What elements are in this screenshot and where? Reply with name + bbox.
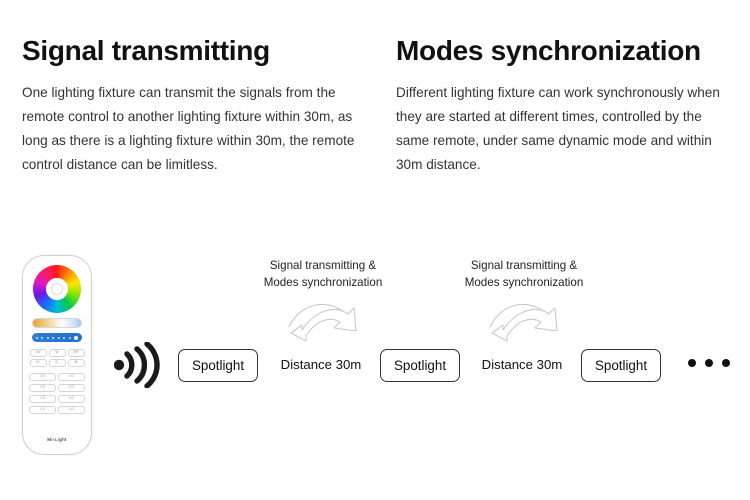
arrow-caption-line1: Signal transmitting & — [443, 257, 605, 274]
bidirectional-arrow-icon — [487, 297, 563, 354]
arrow-caption-1: Signal transmitting & Modes synchronizat… — [242, 257, 404, 291]
zone-button-grid: I O I O I O I O I O I O I O I O — [28, 373, 86, 414]
remote-zone-button: I O — [58, 406, 85, 414]
remote-brand-label: Mi-Light — [23, 437, 91, 442]
remote-zone-button: I O — [29, 406, 56, 414]
color-wheel-icon — [33, 265, 81, 313]
section-body-left: One lighting fixture can transmit the si… — [22, 81, 372, 177]
fixture-spotlight-1: Spotlight — [178, 349, 258, 382]
remote-zone-button: I O — [29, 395, 56, 403]
bidirectional-arrow-icon — [286, 297, 362, 354]
color-temperature-slider — [32, 318, 82, 328]
arrow-caption-2: Signal transmitting & Modes synchronizat… — [443, 257, 605, 291]
infographic-page: Signal transmitting One lighting fixture… — [0, 0, 750, 500]
section-body-right: Different lighting fixture can work sync… — [396, 81, 736, 177]
brightness-mode-slider — [32, 333, 82, 342]
distance-label-1: Distance 30m — [268, 357, 374, 372]
remote-mode-button: S+ — [30, 359, 47, 367]
signal-waves-icon — [112, 342, 160, 388]
section-modes-synchronization: Modes synchronization Different lighting… — [396, 36, 736, 177]
arrow-caption-line2: Modes synchronization — [242, 274, 404, 291]
fixture-spotlight-2: Spotlight — [380, 349, 460, 382]
remote-mode-button: M — [68, 359, 85, 367]
section-signal-transmitting: Signal transmitting One lighting fixture… — [22, 36, 372, 177]
remote-mode-button: ON — [30, 349, 47, 357]
distance-label-2: Distance 30m — [469, 357, 575, 372]
fixture-spotlight-3: Spotlight — [581, 349, 661, 382]
arrow-caption-line1: Signal transmitting & — [242, 257, 404, 274]
ellipsis-dot — [688, 359, 696, 367]
ellipsis-dot — [705, 359, 713, 367]
page-title-right: Modes synchronization — [396, 36, 736, 67]
remote-mode-button: S- — [49, 359, 66, 367]
remote-zone-button: I O — [58, 373, 85, 381]
diagram-area: ON W OFF S+ S- M I O I O I O I O I O I O… — [0, 245, 750, 475]
remote-zone-button: I O — [58, 395, 85, 403]
arrow-caption-line2: Modes synchronization — [443, 274, 605, 291]
remote-mode-button: W — [49, 349, 66, 357]
mode-button-grid: ON W OFF S+ S- M — [29, 349, 85, 367]
remote-zone-button: I O — [58, 384, 85, 392]
page-title-left: Signal transmitting — [22, 36, 372, 67]
remote-mode-button: OFF — [68, 349, 85, 357]
continuation-ellipsis — [688, 359, 730, 367]
ellipsis-dot — [722, 359, 730, 367]
remote-zone-button: I O — [29, 373, 56, 381]
remote-zone-button: I O — [29, 384, 56, 392]
remote-control-device: ON W OFF S+ S- M I O I O I O I O I O I O… — [22, 255, 92, 455]
